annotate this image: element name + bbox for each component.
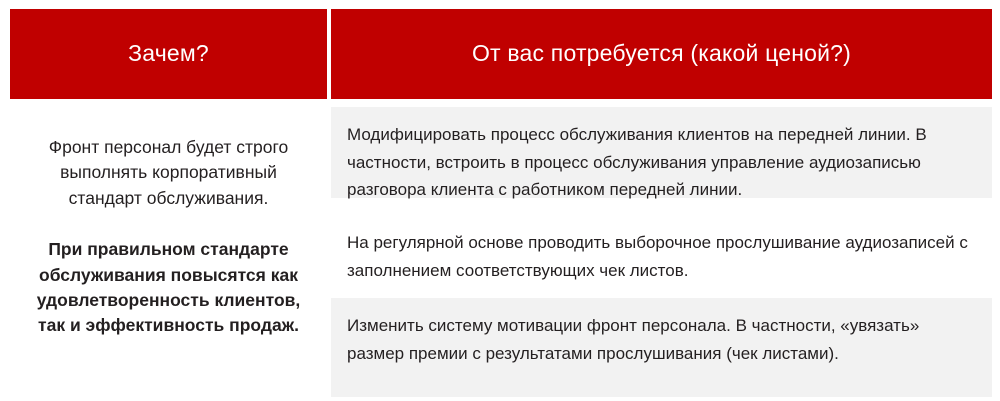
table-header-cell-cost: От вас потребуется (какой ценой?) — [331, 9, 992, 99]
table-row: Модифицировать процесс обслуживания клие… — [331, 107, 992, 198]
table-header-cell-why: Зачем? — [10, 9, 327, 99]
why-paragraph-normal: Фронт персонал будет строго выполнять ко… — [22, 135, 315, 211]
table-body-cell-why: Фронт персонал будет строго выполнять ко… — [10, 99, 327, 401]
table-header-label-cost: От вас потребуется (какой ценой?) — [472, 41, 851, 66]
requirement-text-3: Изменить систему мотивации фронт персона… — [347, 312, 972, 367]
table-row: На регулярной основе проводить выборочно… — [331, 215, 992, 283]
why-paragraph-bold: При правильном стандарте обслуживания по… — [22, 237, 315, 339]
slide-canvas: Зачем? От вас потребуется (какой ценой?)… — [0, 0, 1000, 401]
table-header-label-why: Зачем? — [128, 41, 209, 66]
table-row: Изменить систему мотивации фронт персона… — [331, 298, 992, 397]
requirement-text-2: На регулярной основе проводить выборочно… — [347, 229, 972, 284]
requirement-text-1: Модифицировать процесс обслуживания клие… — [347, 121, 972, 204]
